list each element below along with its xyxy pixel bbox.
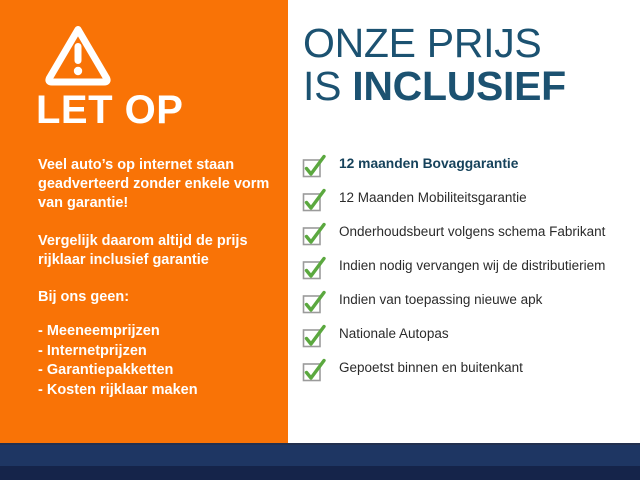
checkbox-checked-icon [302,291,320,309]
checkbox-checked-icon [302,155,320,173]
headline-prefix: IS [303,63,352,109]
list-item: 12 Maanden Mobiliteitsgarantie [302,184,638,218]
list-item: Indien nodig vervangen wij de distributi… [302,252,638,286]
list-item-label: Onderhoudsbeurt volgens schema Fabrikant [339,224,605,240]
list-item-label: 12 Maanden Mobiliteitsgarantie [339,190,527,206]
checkbox-checked-icon [302,223,320,241]
list-item: 12 maanden Bovaggarantie [302,150,638,184]
headline-line-1: ONZE PRIJS [303,22,566,65]
list-item: Nationale Autopas [302,320,638,354]
headline-emphasis: INCLUSIEF [352,63,566,109]
list-item-label: Nationale Autopas [339,326,449,342]
list-item: Onderhoudsbeurt volgens schema Fabrikant [302,218,638,252]
warning-paragraph-2: Vergelijk daarom altijd de prijs rijklaa… [38,232,278,270]
bottom-bar-shadow [0,466,640,480]
list-item: Indien van toepassing nieuwe apk [302,286,638,320]
page-title: LET OP [36,90,183,130]
checkbox-checked-icon [302,189,320,207]
warning-panel: LET OP Veel auto’s op internet staan gea… [0,0,288,444]
list-item-label: Indien van toepassing nieuwe apk [339,292,542,308]
list-item: - Meeneemprijzen [38,322,278,342]
checkbox-checked-icon [302,257,320,275]
warning-paragraph-1: Veel auto’s op internet staan geadvertee… [38,156,278,213]
checkbox-checked-icon [302,359,320,377]
inclusions-checklist: 12 maanden Bovaggarantie 12 Maanden Mobi… [302,150,638,388]
warning-triangle-exclamation-icon [44,24,112,86]
headline: ONZE PRIJS IS INCLUSIEF [303,22,566,108]
list-item: Gepoetst binnen en buitenkant [302,354,638,388]
checkbox-checked-icon [302,325,320,343]
exclusions-heading: Bij ons geen: [38,288,278,307]
inclusive-panel: ONZE PRIJS IS INCLUSIEF 12 maanden Bovag… [288,0,640,444]
list-item-label: 12 maanden Bovaggarantie [339,156,518,172]
list-item: - Garantiepakketten [38,361,278,381]
promo-banner: LET OP Veel auto’s op internet staan gea… [0,0,640,480]
exclusions-list: - Meeneemprijzen - Internetprijzen - Gar… [38,322,278,400]
headline-line-2: IS INCLUSIEF [303,65,566,108]
list-item-label: Gepoetst binnen en buitenkant [339,360,523,376]
list-item-label: Indien nodig vervangen wij de distributi… [339,258,605,274]
list-item: - Kosten rijklaar maken [38,381,278,401]
list-item: - Internetprijzen [38,342,278,362]
